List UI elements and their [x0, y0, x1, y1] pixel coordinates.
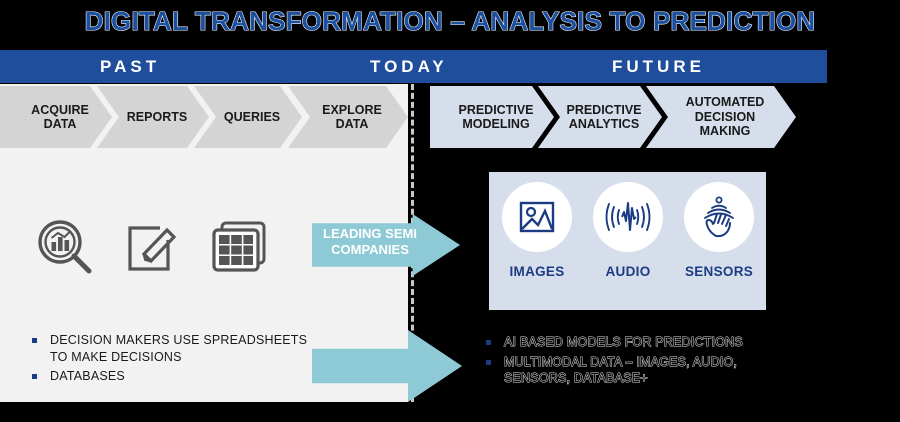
past-stage-label: EXPLORE DATA: [308, 103, 388, 132]
past-bullet-text: DECISION MAKERS USE SPREADSHEETS TO MAKE…: [50, 332, 312, 365]
future-stage-label: AUTOMATED DECISION MAKING: [672, 95, 771, 138]
modality-audio[interactable]: AUDIO: [586, 182, 670, 279]
past-stage-reports[interactable]: REPORTS: [97, 86, 209, 148]
phase-label-future: FUTURE: [612, 57, 705, 77]
modality-panel: IMAGES AUDIO: [489, 172, 766, 310]
future-stage-predictive-modeling[interactable]: PREDICTIVE MODELING: [430, 86, 554, 148]
past-bullet-text: DATABASES: [50, 368, 125, 385]
page-title: DIGITAL TRANSFORMATION – ANALYSIS TO PRE…: [0, 6, 900, 37]
chart-magnifier-icon: [36, 218, 94, 281]
future-bullet-text: AI BASED MODELS FOR PREDICTIONS: [504, 334, 743, 351]
bullet-square-icon: [32, 374, 37, 379]
past-stage-label: ACQUIRE DATA: [17, 103, 95, 132]
list-item: MULTIMODAL DATA – IMAGES, AUDIO, SENSORS…: [486, 354, 886, 387]
future-stage-row: PREDICTIVE MODELING PREDICTIVE ANALYTICS…: [430, 86, 800, 148]
bullet-square-icon: [486, 360, 491, 365]
list-item: DECISION MAKERS USE SPREADSHEETS TO MAKE…: [32, 332, 312, 365]
modality-label: IMAGES: [495, 264, 579, 279]
image-photo-icon: [517, 197, 557, 237]
modality-circle: [684, 182, 754, 252]
past-stage-acquire-data[interactable]: ACQUIRE DATA: [0, 86, 112, 148]
future-stage-automated-decision-making[interactable]: AUTOMATED DECISION MAKING: [646, 86, 796, 148]
past-stage-label: QUERIES: [210, 110, 286, 124]
list-item: DATABASES: [32, 368, 312, 385]
phase-header-bar: PAST TODAY FUTURE: [0, 50, 827, 83]
infographic-canvas: DIGITAL TRANSFORMATION – ANALYSIS TO PRE…: [0, 0, 900, 422]
modality-label: SENSORS: [677, 264, 761, 279]
future-bullet-text: MULTIMODAL DATA – IMAGES, AUDIO, SENSORS…: [504, 354, 739, 387]
modality-label: AUDIO: [586, 264, 670, 279]
past-stage-explore-data[interactable]: EXPLORE DATA: [288, 86, 408, 148]
modality-images[interactable]: IMAGES: [495, 182, 579, 279]
phase-label-past: PAST: [100, 57, 160, 77]
leading-semi-companies-label: LEADING SEMI COMPANIES: [318, 226, 422, 257]
future-stage-label: PREDICTIVE ANALYTICS: [552, 103, 647, 132]
future-bullet-list: AI BASED MODELS FOR PREDICTIONS MULTIMOD…: [486, 334, 886, 390]
future-stage-predictive-analytics[interactable]: PREDICTIVE ANALYTICS: [538, 86, 662, 148]
phase-label-today: TODAY: [370, 57, 448, 77]
modality-circle: [502, 182, 572, 252]
list-item: AI BASED MODELS FOR PREDICTIONS: [486, 334, 886, 351]
past-stage-queries[interactable]: QUERIES: [194, 86, 302, 148]
bullet-square-icon: [486, 340, 491, 345]
audio-waveform-icon: [605, 199, 651, 235]
edit-pencil-icon: [124, 218, 180, 279]
future-stage-label: PREDICTIVE MODELING: [444, 103, 539, 132]
past-bullet-list: DECISION MAKERS USE SPREADSHEETS TO MAKE…: [32, 332, 312, 388]
modality-sensors[interactable]: SENSORS: [677, 182, 761, 279]
bullet-square-icon: [32, 338, 37, 343]
modality-circle: [593, 182, 663, 252]
spreadsheet-grid-icon: [210, 218, 270, 281]
hand-sensor-icon: [697, 195, 741, 239]
past-stage-label: REPORTS: [113, 110, 193, 124]
past-stage-row: ACQUIRE DATA REPORTS QUERIES EXPLORE DAT…: [0, 86, 408, 148]
